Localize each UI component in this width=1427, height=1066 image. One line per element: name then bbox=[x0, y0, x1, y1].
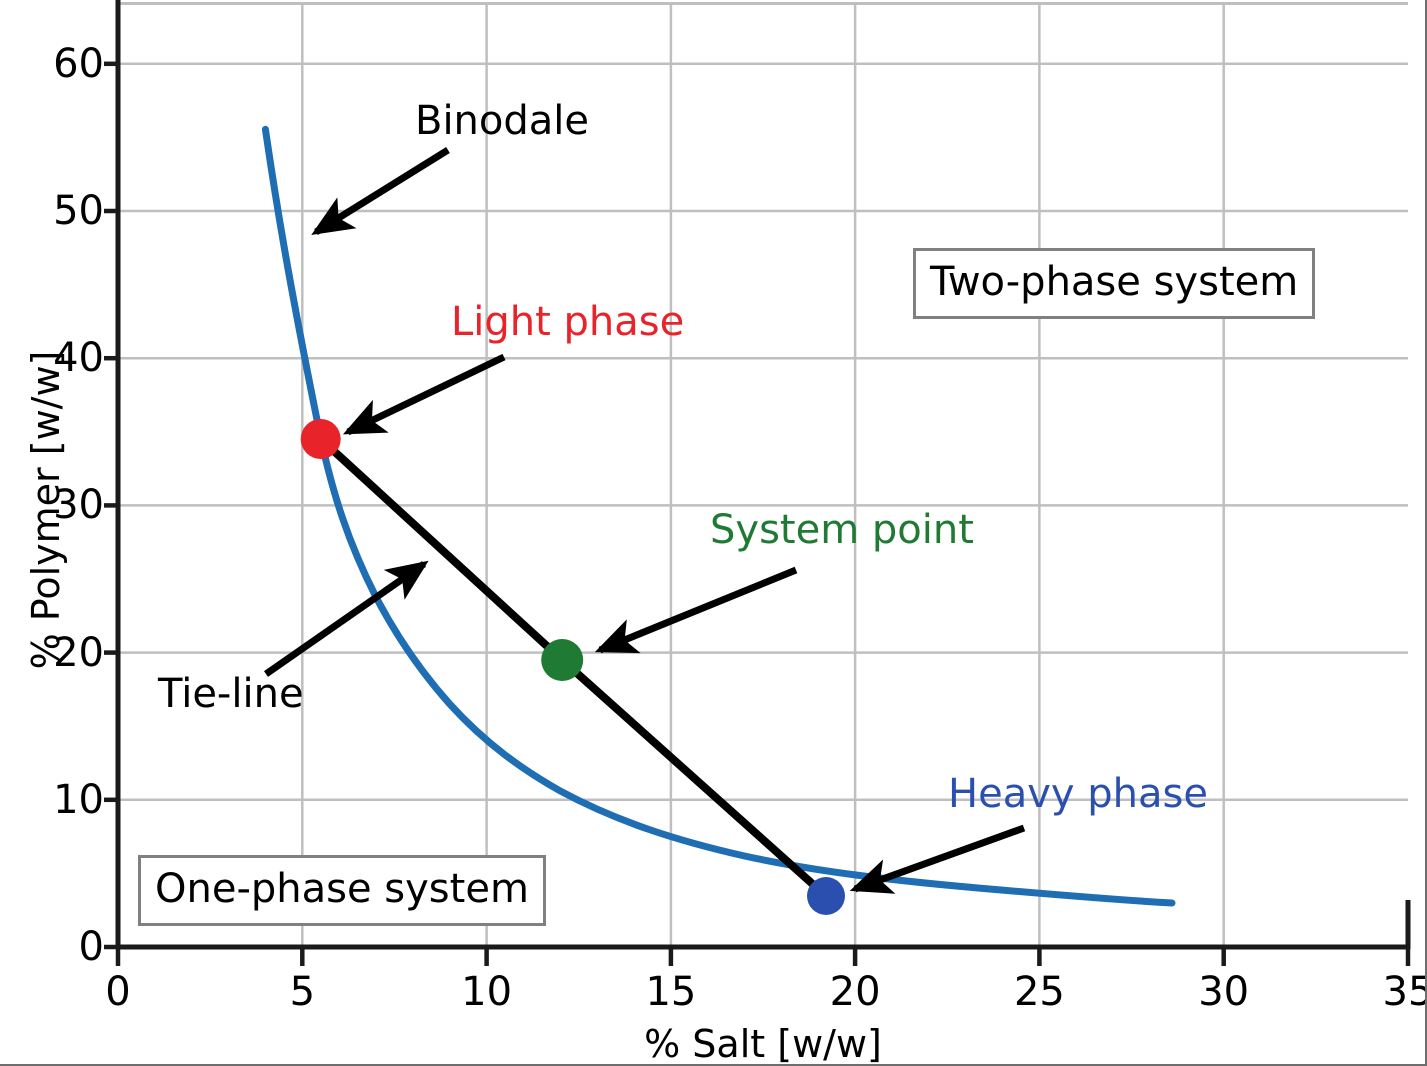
y-tick-10: 10 bbox=[53, 780, 104, 820]
y-tick-60: 60 bbox=[53, 44, 104, 84]
x-tick-5: 5 bbox=[290, 972, 315, 1012]
x-tick-25: 25 bbox=[1014, 972, 1065, 1012]
x-tick-35: 35 bbox=[1383, 972, 1427, 1012]
axes-spines bbox=[0, 0, 1427, 1066]
chart-figure: Two-phase system One-phase system Binoda… bbox=[0, 0, 1427, 1066]
x-tick-20: 20 bbox=[830, 972, 881, 1012]
x-axis-title: % Salt [w/w] bbox=[118, 1022, 1408, 1066]
x-tick-15: 15 bbox=[645, 972, 696, 1012]
y-tick-50: 50 bbox=[53, 191, 104, 231]
x-tick-0: 0 bbox=[105, 972, 130, 1012]
y-axis-title: % Polymer [w/w] bbox=[24, 250, 68, 770]
x-tick-30: 30 bbox=[1198, 972, 1249, 1012]
y-tick-0: 0 bbox=[79, 927, 104, 967]
x-tick-10: 10 bbox=[461, 972, 512, 1012]
